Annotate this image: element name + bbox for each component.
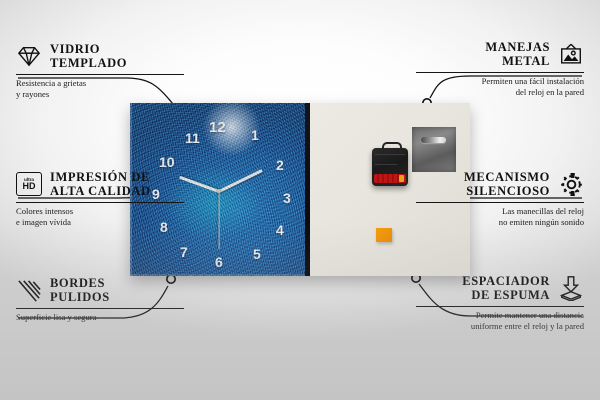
feature-description: Resistencia a grietas y rayones xyxy=(16,78,184,101)
clock-center-pin xyxy=(217,189,221,193)
clock-numeral-7: 7 xyxy=(180,245,188,259)
feature-description: Permiten una fácil instalación del reloj… xyxy=(416,76,584,99)
battery-compartment xyxy=(374,174,406,183)
clock-hour-hand xyxy=(179,176,219,193)
diamond-icon xyxy=(16,43,42,69)
feature-description: Superficie lisa y segura xyxy=(16,312,184,323)
clock-mechanism xyxy=(372,148,408,186)
clock-numeral-4: 4 xyxy=(276,223,284,237)
clock-numeral-12: 12 xyxy=(209,120,226,135)
feature-mecanismo-silencioso: MECANISMO SILENCIOSO Las manecillas del … xyxy=(416,170,584,228)
infographic-canvas: 12 1 2 3 4 5 6 7 8 9 10 11 xyxy=(0,0,600,400)
hd-label: HD xyxy=(23,182,36,191)
metal-hanger-plate xyxy=(412,127,456,172)
polished-edges-icon xyxy=(16,277,42,303)
clock-minute-hand xyxy=(218,169,262,193)
feature-title: MECANISMO SILENCIOSO xyxy=(464,170,550,199)
feature-bordes-pulidos: BORDES PULIDOS Superficie lisa y segura xyxy=(16,276,184,323)
feature-manejas-metal: MANEJAS METAL Permiten una fácil instala… xyxy=(416,40,584,98)
feature-impresion-alta-calidad: ultra HD IMPRESIÓN DE ALTA CALIDAD Color… xyxy=(16,170,184,228)
clock-numeral-1: 1 xyxy=(251,128,259,142)
feature-description: Colores intensos e imagen vívida xyxy=(16,206,184,229)
clock-numeral-10: 10 xyxy=(159,155,175,169)
hanger-slot xyxy=(421,137,446,143)
divider xyxy=(16,74,184,75)
divider xyxy=(416,306,584,307)
foam-spacer xyxy=(376,228,392,242)
clock-numeral-11: 11 xyxy=(185,131,200,145)
framed-picture-icon xyxy=(558,41,584,67)
mechanism-detail-line xyxy=(375,164,397,165)
clock-numeral-6: 6 xyxy=(215,255,223,269)
divider xyxy=(16,308,184,309)
foam-spacer-icon xyxy=(558,275,584,301)
mechanism-detail-line xyxy=(375,154,405,155)
divider xyxy=(416,202,584,203)
feature-title: IMPRESIÓN DE ALTA CALIDAD xyxy=(50,170,151,199)
divider xyxy=(16,202,184,203)
feature-title: VIDRIO TEMPLADO xyxy=(50,42,127,71)
divider xyxy=(416,72,584,73)
feature-title: MANEJAS METAL xyxy=(485,40,550,69)
clock-numeral-3: 3 xyxy=(283,191,291,205)
clock-numeral-5: 5 xyxy=(253,247,261,261)
feature-vidrio-templado: VIDRIO TEMPLADO Resistencia a grietas y … xyxy=(16,42,184,100)
mechanism-hook xyxy=(382,142,402,153)
feature-description: Permite mantener una distancia uniforme … xyxy=(416,310,584,333)
gear-icon xyxy=(558,171,584,197)
feature-title: BORDES PULIDOS xyxy=(50,276,110,305)
clock-second-hand xyxy=(218,192,219,250)
feature-description: Las manecillas del reloj no emiten ningú… xyxy=(416,206,584,229)
ultra-hd-icon: ultra HD xyxy=(16,171,42,197)
battery-terminal xyxy=(399,175,404,182)
clock-numeral-2: 2 xyxy=(276,158,284,172)
feature-title: ESPACIADOR DE ESPUMA xyxy=(462,274,550,303)
feature-espaciador-de-espuma: ESPACIADOR DE ESPUMA Permite mantener un… xyxy=(416,274,584,332)
